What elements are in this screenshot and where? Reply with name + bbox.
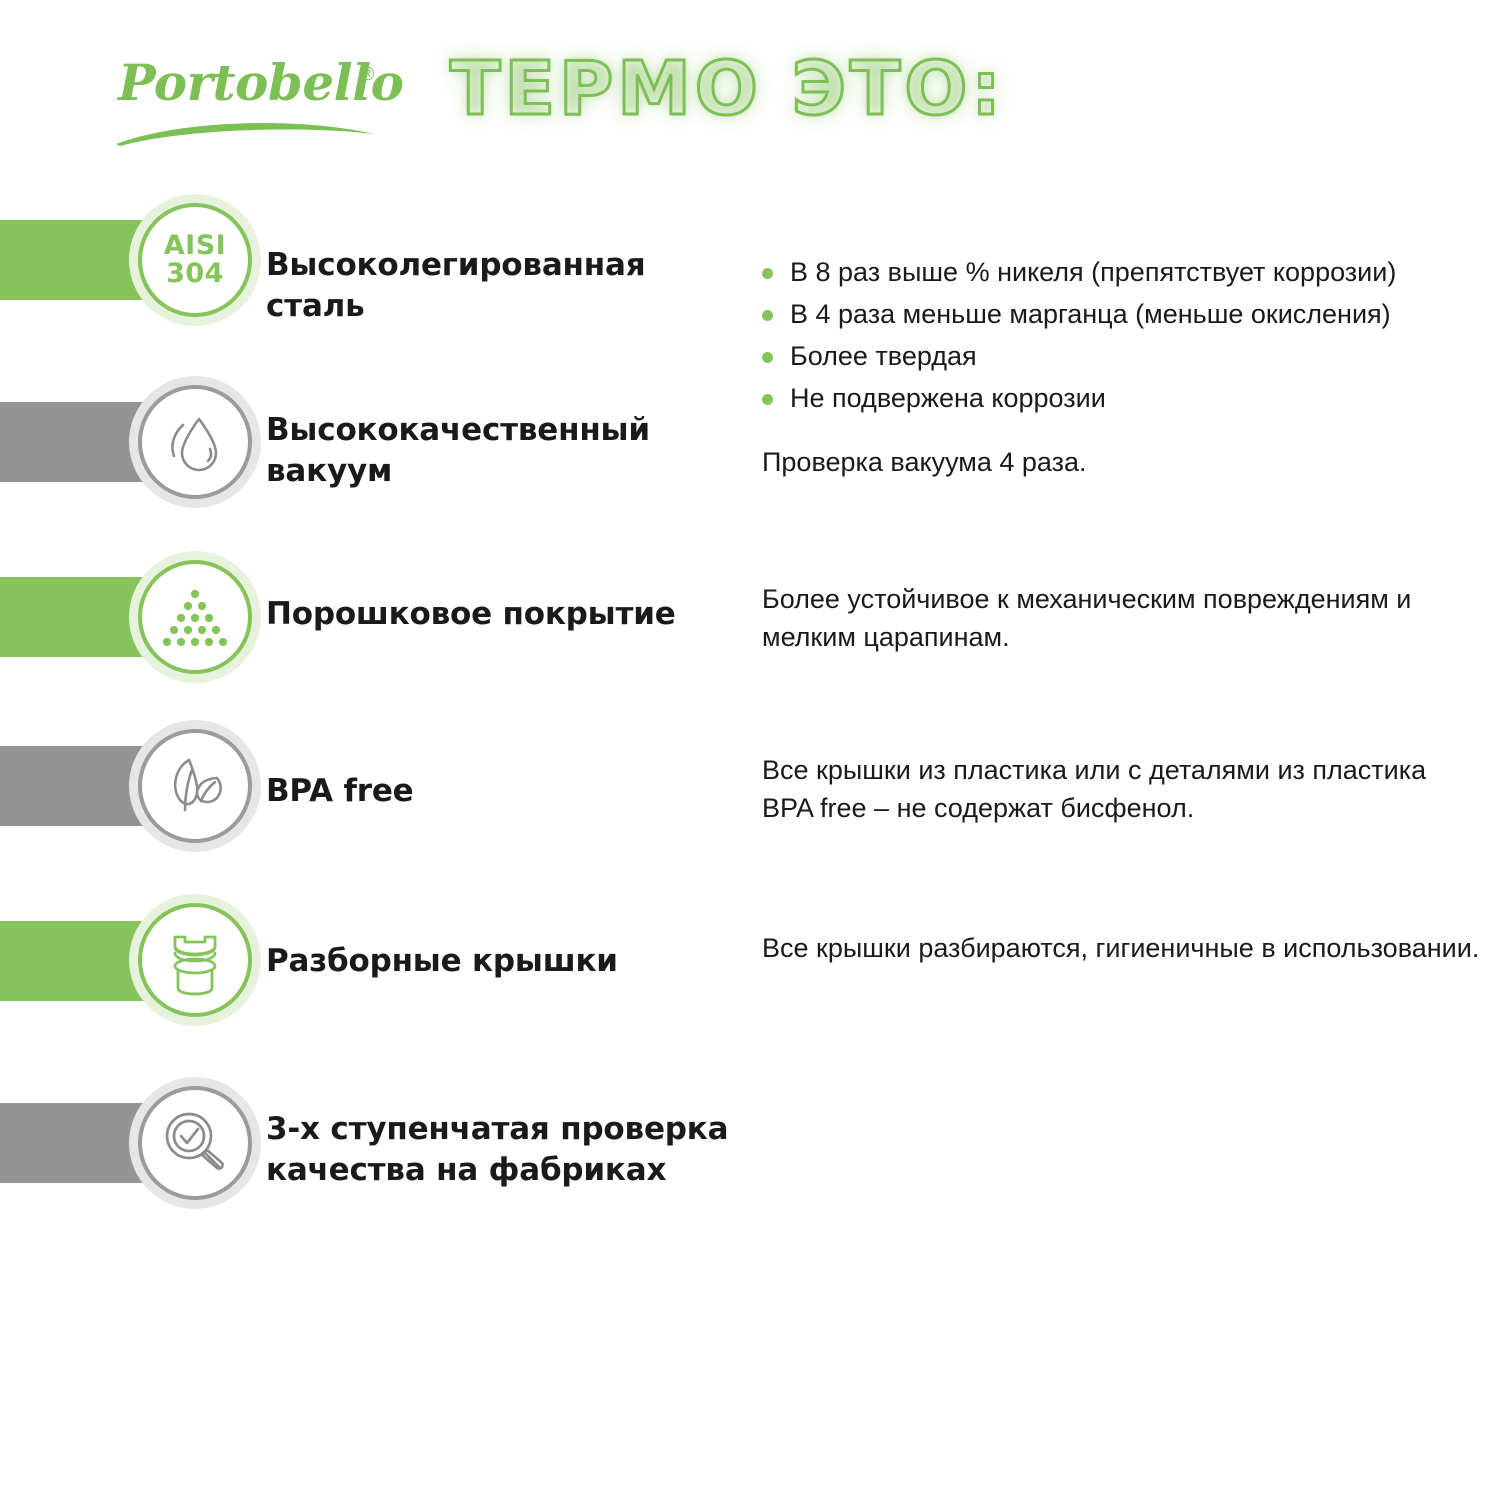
feature-list: AISI 304 Высоколегированная сталь В 8 ра… — [0, 205, 1500, 1261]
leaves-icon — [143, 734, 247, 838]
feature-title: Высоколегированная сталь — [266, 245, 736, 327]
aisi-grade: 304 — [164, 260, 226, 288]
powder-dots-icon — [143, 565, 247, 669]
list-item: Более твердая — [758, 337, 1498, 376]
feature-icon-badge — [138, 729, 252, 843]
feature-description: Все крышки разбираются, гигиеничные в ис… — [762, 929, 1482, 967]
list-item: В 4 раза меньше марганца (меньше окислен… — [758, 295, 1498, 334]
feature-title: Порошковое покрытие — [266, 594, 736, 635]
feature-title: BPA free — [266, 771, 736, 812]
feature-title: 3-х ступенчатая проверка качества на фаб… — [266, 1109, 736, 1191]
feature-title: Высококачественный вакуум — [266, 410, 736, 492]
jar-lid-icon — [143, 908, 247, 1012]
feature-description: Проверка вакуума 4 раза. — [762, 443, 1482, 481]
water-drop-icon — [143, 390, 247, 494]
feature-icon-badge — [138, 560, 252, 674]
feature-row-high-alloy-steel: AISI 304 Высоколегированная сталь В 8 ра… — [0, 205, 1500, 385]
aisi-label: AISI — [164, 232, 226, 260]
feature-icon-badge — [138, 903, 252, 1017]
magnifier-check-icon — [143, 1091, 247, 1195]
page-header: Portobello ® ТЕРМО ЭТО: — [0, 0, 1500, 200]
feature-row-detachable-lids: Разборные крышки Все крышки разбираются,… — [0, 901, 1500, 1081]
feature-title: Разборные крышки — [266, 941, 736, 982]
page-title: ТЕРМО ЭТО: — [450, 52, 1005, 126]
registered-trademark-icon: ® — [361, 64, 374, 85]
feature-row-high-quality-vacuum: Высококачественный вакуум Проверка вакуу… — [0, 385, 1500, 557]
feature-row-three-stage-quality-check: 3-х ступенчатая проверка качества на фаб… — [0, 1081, 1500, 1261]
list-item: В 8 раз выше % никеля (препятствует корр… — [758, 253, 1498, 292]
feature-row-powder-coating: Порошковое покрытие Более устойчивое к м… — [0, 557, 1500, 729]
feature-row-bpa-free: BPA free Все крышки из пластика или с де… — [0, 729, 1500, 901]
feature-icon-badge — [138, 1086, 252, 1200]
logo-swoosh-icon — [116, 120, 378, 146]
feature-description: Более устойчивое к механическим поврежде… — [762, 580, 1482, 657]
feature-description: Все крышки из пластика или с деталями из… — [762, 751, 1482, 828]
feature-icon-badge: AISI 304 — [138, 203, 252, 317]
aisi-304-badge-icon: AISI 304 — [143, 208, 247, 312]
feature-icon-badge — [138, 385, 252, 499]
portobello-logo: Portobello ® — [118, 58, 418, 158]
